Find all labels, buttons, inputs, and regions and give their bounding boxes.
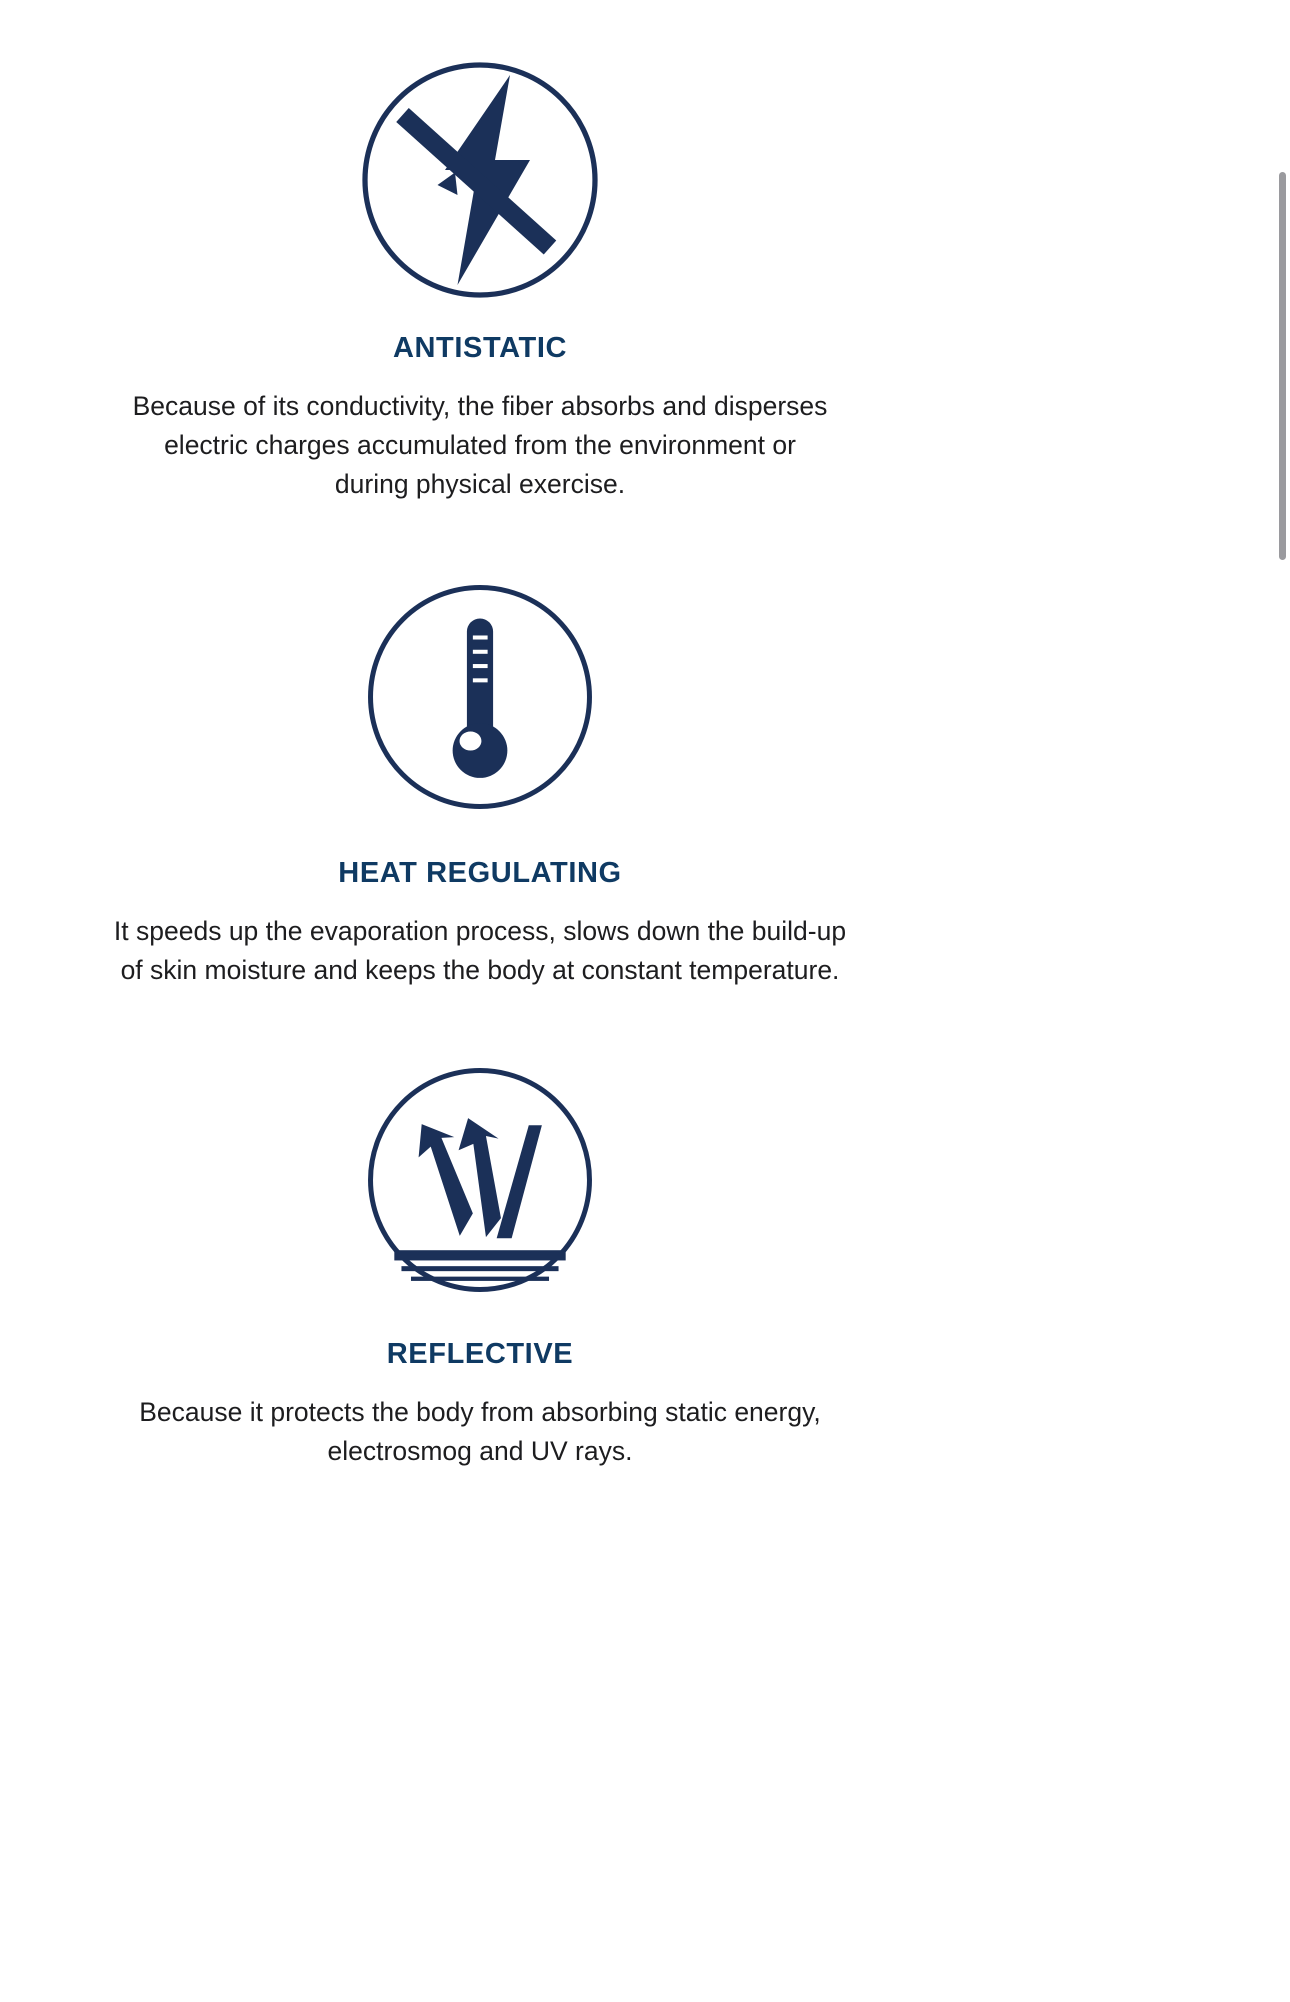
reflective-arrows-icon xyxy=(330,1030,630,1330)
feature-title: HEAT REGULATING xyxy=(338,857,621,890)
feature-benefits-page: ANTISTATIC Because of its conductivity, … xyxy=(0,0,1290,2002)
feature-description: Because of its conductivity, the fiber a… xyxy=(130,387,830,505)
no-static-lightning-bolt-icon xyxy=(330,30,630,330)
thermometer-icon xyxy=(330,547,630,847)
feature-title: REFLECTIVE xyxy=(387,1338,573,1371)
feature-description: Because it protects the body from absorb… xyxy=(130,1393,830,1471)
feature-card-heat-regulating: HEAT REGULATING It speeds up the evapora… xyxy=(0,505,960,990)
feature-card-antistatic: ANTISTATIC Because of its conductivity, … xyxy=(0,30,960,505)
scrollbar-thumb[interactable] xyxy=(1279,172,1286,560)
feature-list: ANTISTATIC Because of its conductivity, … xyxy=(0,0,960,1472)
feature-card-reflective: REFLECTIVE Because it protects the body … xyxy=(0,990,960,1471)
feature-description: It speeds up the evaporation process, sl… xyxy=(100,912,860,990)
page-scrollbar[interactable] xyxy=(1276,0,1290,2002)
feature-title: ANTISTATIC xyxy=(393,332,567,365)
